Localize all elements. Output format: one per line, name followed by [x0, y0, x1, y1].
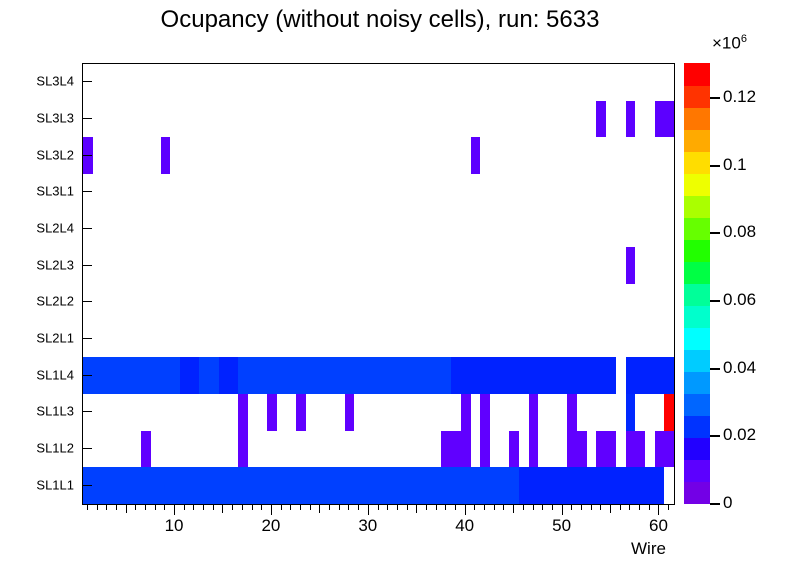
heatmap-cell	[471, 137, 481, 174]
heatmap-cell	[161, 137, 171, 174]
heatmap-cell	[461, 394, 471, 431]
x-axis-tick-label: 30	[358, 516, 377, 536]
y-axis-tick	[82, 81, 92, 82]
x-axis-tick	[571, 504, 572, 510]
x-axis-tick	[523, 504, 524, 510]
heatmap-cell	[529, 394, 539, 431]
plot-canvas: Ocupancy (without noisy cells), run: 563…	[0, 0, 796, 572]
colorbar-band	[684, 437, 710, 460]
x-axis-tick	[445, 504, 446, 510]
x-axis-tick	[106, 504, 107, 510]
colorbar-band	[684, 239, 710, 262]
x-axis-tick	[649, 504, 650, 510]
heatmap-cell	[655, 431, 674, 468]
heatmap-cell	[238, 394, 248, 431]
y-axis-tick	[82, 338, 92, 339]
x-axis-tick	[358, 504, 359, 510]
x-axis-tick	[581, 504, 582, 510]
heatmap-cell	[219, 357, 238, 394]
x-axis-tick	[261, 504, 262, 510]
colorbar-tick-label: 0.02	[723, 425, 756, 445]
colorbar-exponent-prefix: ×10	[712, 34, 741, 53]
x-axis-tick	[252, 504, 253, 510]
y-axis-label-sl1l3: SL1L3	[0, 404, 74, 419]
x-axis-tick	[203, 504, 204, 510]
heatmap-cell	[83, 137, 93, 174]
colorbar-band	[684, 195, 710, 218]
colorbar-tick-label: 0.08	[723, 222, 756, 242]
x-axis-tick	[126, 504, 127, 513]
heatmap-cell	[529, 431, 539, 468]
x-axis-tick	[600, 504, 601, 510]
x-axis-tick	[436, 504, 437, 510]
x-axis-tick	[629, 504, 630, 510]
colorbar-exponent: ×106	[712, 33, 747, 54]
colorbar-band	[684, 305, 710, 328]
y-axis-label-sl2l4: SL2L4	[0, 221, 74, 236]
colorbar	[684, 63, 710, 503]
heatmap-cell	[567, 394, 577, 431]
heatmap-cell	[596, 431, 615, 468]
heatmap-cell	[626, 247, 636, 284]
y-axis-label-sl2l1: SL2L1	[0, 331, 74, 346]
x-axis-tick	[135, 504, 136, 510]
colorbar-tick	[710, 300, 720, 302]
y-axis-tick	[82, 191, 92, 192]
y-axis-tick	[82, 448, 92, 449]
heatmap-cell	[567, 431, 586, 468]
heatmap-cell	[655, 101, 674, 138]
x-axis-tick-label: 60	[649, 516, 668, 536]
x-axis-tick	[319, 504, 320, 513]
x-axis-tick-label: 10	[165, 516, 184, 536]
colorbar-band	[684, 481, 710, 504]
heatmap-cell	[596, 101, 606, 138]
y-axis-tick	[82, 155, 92, 156]
y-axis-label-sl1l1: SL1L1	[0, 477, 74, 492]
colorbar-band	[684, 371, 710, 394]
x-axis-tick	[562, 504, 563, 515]
y-axis-tick	[82, 118, 92, 119]
heatmap-cell	[441, 431, 460, 468]
colorbar-band	[684, 415, 710, 438]
y-axis-tick	[82, 411, 92, 412]
heatmap-cell	[83, 357, 180, 394]
colorbar-band	[684, 459, 710, 482]
y-axis-tick	[82, 265, 92, 266]
plot-frame	[82, 63, 675, 505]
x-axis-tick	[271, 504, 272, 515]
x-axis-tick	[465, 504, 466, 515]
x-axis-tick	[213, 504, 214, 510]
colorbar-band	[684, 173, 710, 196]
colorbar-tick	[710, 232, 720, 234]
x-axis-tick	[378, 504, 379, 510]
heatmap-cell	[345, 394, 355, 431]
heatmap-cell	[451, 357, 616, 394]
x-axis-tick	[513, 504, 514, 513]
x-axis-tick	[474, 504, 475, 510]
colorbar-band	[684, 107, 710, 130]
colorbar-band	[684, 129, 710, 152]
colorbar-tick	[710, 165, 720, 167]
x-axis-tick	[87, 504, 88, 510]
x-axis-tick	[533, 504, 534, 510]
heatmap-cells	[83, 64, 674, 504]
colorbar-band	[684, 85, 710, 108]
heatmap-cell	[509, 431, 519, 468]
heatmap-cell	[141, 431, 151, 468]
colorbar-band	[684, 283, 710, 306]
heatmap-cell	[238, 357, 451, 394]
heatmap-cell	[267, 394, 277, 431]
heatmap-cell	[83, 467, 519, 504]
x-axis-tick	[290, 504, 291, 510]
colorbar-band	[684, 261, 710, 284]
x-axis-tick	[658, 504, 659, 515]
x-axis-tick	[668, 504, 669, 510]
x-axis-tick	[184, 504, 185, 510]
x-axis-tick	[639, 504, 640, 510]
x-axis-tick	[542, 504, 543, 510]
x-axis-tick	[97, 504, 98, 510]
page-title: Ocupancy (without noisy cells), run: 563…	[0, 6, 760, 34]
heatmap-cell	[480, 394, 490, 431]
x-axis-tick	[222, 504, 223, 513]
colorbar-band	[684, 217, 710, 240]
x-axis-tick	[591, 504, 592, 510]
x-axis-tick	[116, 504, 117, 510]
colorbar-tick-label: 0.1	[723, 155, 747, 175]
x-axis-tick	[281, 504, 282, 510]
y-axis-tick	[82, 375, 92, 376]
heatmap-cell	[480, 431, 490, 468]
y-axis-label-sl1l4: SL1L4	[0, 367, 74, 382]
heatmap-cell	[626, 394, 636, 431]
x-axis-tick	[416, 504, 417, 513]
y-axis-label-sl3l4: SL3L4	[0, 74, 74, 89]
x-axis-tick	[494, 504, 495, 510]
x-axis-tick	[368, 504, 369, 515]
x-axis-tick	[339, 504, 340, 510]
colorbar-tick	[710, 97, 720, 99]
y-axis-tick	[82, 228, 92, 229]
y-axis-label-sl3l2: SL3L2	[0, 147, 74, 162]
x-axis-tick	[310, 504, 311, 510]
x-axis-tick	[193, 504, 194, 510]
x-axis-tick	[242, 504, 243, 510]
colorbar-tick	[710, 503, 720, 505]
y-axis-label-sl2l2: SL2L2	[0, 294, 74, 309]
colorbar-tick-label: 0	[723, 493, 732, 513]
x-axis-tick	[300, 504, 301, 510]
heatmap-cell	[180, 357, 199, 394]
x-axis-tick	[174, 504, 175, 515]
colorbar-band	[684, 63, 710, 86]
x-axis-tick	[620, 504, 621, 510]
x-axis-tick	[426, 504, 427, 510]
x-axis-tick	[610, 504, 611, 513]
x-axis-tick	[348, 504, 349, 510]
heatmap-cell	[199, 357, 218, 394]
x-axis-tick	[552, 504, 553, 510]
colorbar-tick	[710, 435, 720, 437]
x-axis-tick	[145, 504, 146, 510]
x-axis-tick-label: 40	[455, 516, 474, 536]
x-axis-tick	[503, 504, 504, 510]
colorbar-tick-label: 0.04	[723, 358, 756, 378]
heatmap-cell	[296, 394, 306, 431]
colorbar-band	[684, 327, 710, 350]
colorbar-tick	[710, 368, 720, 370]
x-axis-tick	[484, 504, 485, 510]
y-axis-tick	[82, 485, 92, 486]
x-axis-tick	[232, 504, 233, 510]
x-axis-title: Wire	[631, 539, 666, 559]
y-axis-label-sl3l1: SL3L1	[0, 184, 74, 199]
y-axis-label-sl2l3: SL2L3	[0, 257, 74, 272]
colorbar-tick-label: 0.12	[723, 87, 756, 107]
colorbar-exponent-power: 6	[741, 33, 747, 45]
x-axis-tick	[455, 504, 456, 510]
colorbar-band	[684, 349, 710, 372]
y-axis-label-sl3l3: SL3L3	[0, 111, 74, 126]
x-axis-tick	[397, 504, 398, 510]
heatmap-cell	[238, 431, 248, 468]
x-axis-tick-label: 20	[261, 516, 280, 536]
heatmap-cell	[626, 357, 674, 394]
colorbar-band	[684, 151, 710, 174]
x-axis-tick	[329, 504, 330, 510]
heatmap-cell	[519, 467, 664, 504]
heatmap-cell	[461, 431, 471, 468]
heatmap-cell	[626, 431, 645, 468]
colorbar-tick-label: 0.06	[723, 290, 756, 310]
heatmap-cell	[626, 101, 636, 138]
heatmap-cell	[664, 394, 674, 431]
y-axis-tick	[82, 301, 92, 302]
colorbar-band	[684, 393, 710, 416]
y-axis-label-sl1l2: SL1L2	[0, 441, 74, 456]
x-axis-tick	[164, 504, 165, 510]
x-axis-tick	[155, 504, 156, 510]
x-axis-tick	[407, 504, 408, 510]
x-axis-tick-label: 50	[552, 516, 571, 536]
x-axis-tick	[387, 504, 388, 510]
